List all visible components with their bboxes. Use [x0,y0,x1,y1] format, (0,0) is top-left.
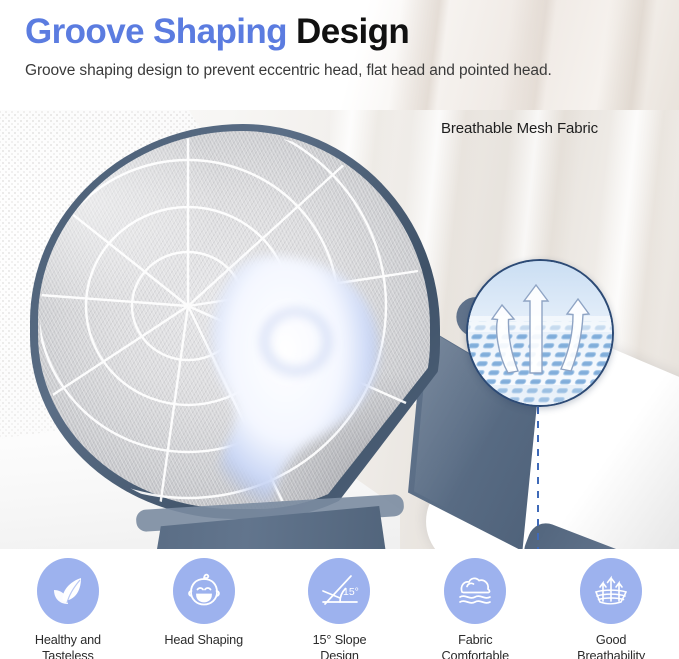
callout-leader-line [537,407,539,549]
page-title-rest: Design [296,12,409,51]
feature-label: Head Shaping [164,632,243,648]
page-title: Groove Shaping Design [25,14,409,49]
feature-label: Good Breathability [577,632,645,659]
shaping-pillow [20,120,500,540]
baby-face-icon [184,571,224,611]
mesh-illustration [468,261,614,407]
product-photo [0,104,679,549]
feature-item-healthy: Healthy and Tasteless [0,549,136,659]
header-banner: Groove Shaping Design Groove shaping des… [0,0,679,110]
airflow-arrows-icon [590,571,632,611]
leaf-icon [48,571,88,611]
feature-bubble [173,558,235,624]
feature-bubble [580,558,642,624]
feature-bubble [37,558,99,624]
feature-item-slope: 15° 15° Slope Design [272,549,408,659]
page-title-highlight: Groove Shaping [25,12,287,51]
feature-bubble: 15° [308,558,370,624]
feature-label: Fabric Comfortable [442,632,509,659]
infographic-page: Groove Shaping Design Groove shaping des… [0,0,679,659]
pillow-groove-highlight [148,250,423,520]
feature-strip: Healthy and Tasteless Head Shaping [0,549,679,659]
breathable-mesh-magnifier [466,259,614,407]
feature-bubble [444,558,506,624]
callout-label: Breathable Mesh Fabric [441,120,598,137]
feature-label: Healthy and Tasteless [35,632,101,659]
page-subtitle: Groove shaping design to prevent eccentr… [25,60,552,81]
feature-item-head-shaping: Head Shaping [136,549,272,648]
svg-text:15°: 15° [343,586,359,598]
angle-15-icon: 15° [318,571,360,611]
feature-label: 15° Slope Design [313,632,367,659]
cloud-wave-icon [454,571,496,611]
feature-item-fabric: Fabric Comfortable [407,549,543,659]
feature-item-breathability: Good Breathability [543,549,679,659]
